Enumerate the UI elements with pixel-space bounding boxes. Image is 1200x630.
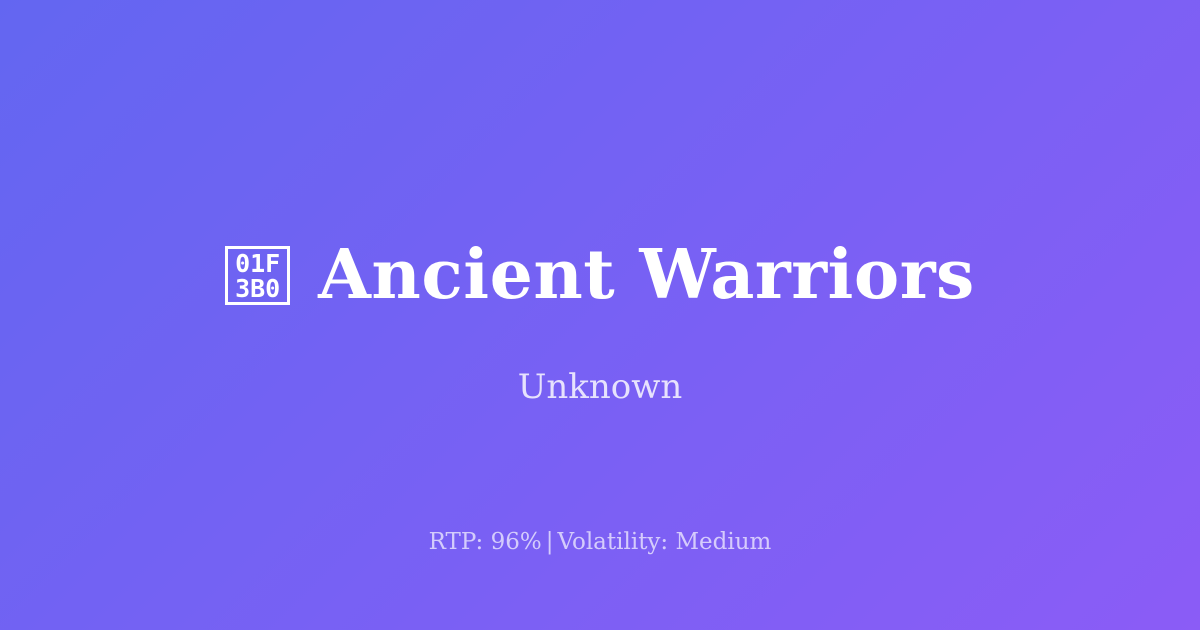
volatility-value: Volatility: Medium — [557, 529, 771, 555]
stats-separator: | — [542, 529, 558, 555]
title-row: 01F 3B0 Ancient Warriors — [0, 233, 1200, 317]
game-stats: RTP: 96%|Volatility: Medium — [0, 527, 1200, 557]
codepoint-top: 01F — [235, 251, 280, 276]
codepoint-bottom: 3B0 — [235, 276, 280, 301]
page-title: Ancient Warriors — [318, 233, 975, 317]
game-preview-card: 01F 3B0 Ancient Warriors Unknown RTP: 96… — [0, 0, 1200, 630]
rtp-value: RTP: 96% — [429, 529, 542, 555]
provider-label: Unknown — [0, 366, 1200, 408]
slot-machine-icon: 01F 3B0 — [225, 246, 290, 305]
